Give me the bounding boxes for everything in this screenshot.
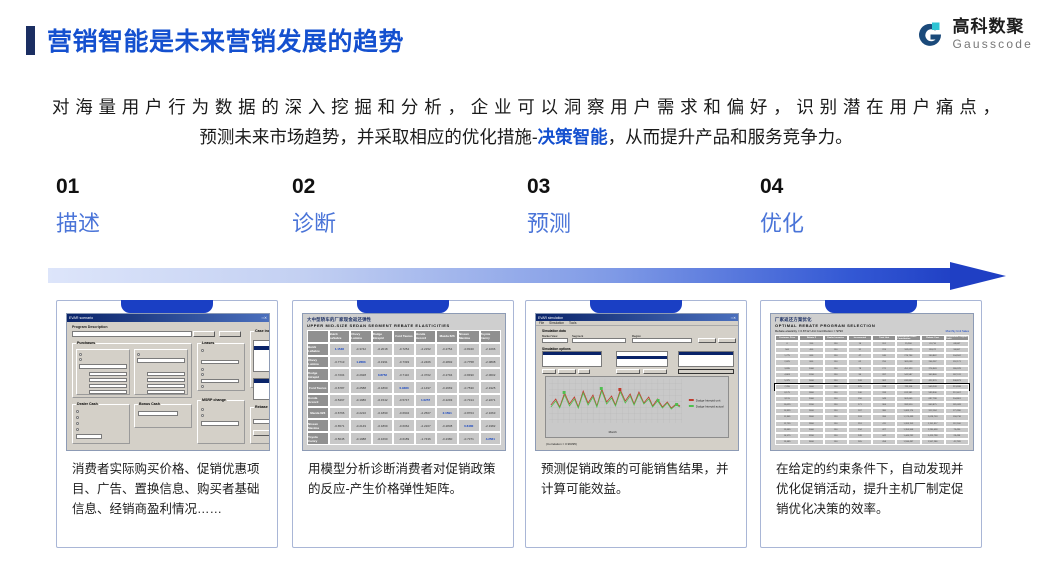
card-04-thumbnail: 厂家返还方案优化 OPTIMAL REBATE PROGRAM SELECTIO… — [770, 313, 974, 451]
card-row: EVAR scenario ▫▫✕ Program Description Pu… — [0, 300, 1051, 550]
table-cell: 0.6480 — [458, 419, 480, 432]
group-rebase-incentives: Rebase incentives — [250, 407, 270, 444]
select-all-button[interactable] — [616, 369, 640, 374]
graph-button[interactable] — [678, 369, 734, 374]
paragraph-highlight: 决策智能 — [538, 127, 608, 147]
radio-all-cash[interactable] — [76, 422, 79, 425]
sim-metrics-selected[interactable] — [679, 352, 733, 355]
table-cell: -2.0602 — [480, 368, 502, 381]
step-04-number: 04 — [760, 176, 960, 197]
term-60-field[interactable] — [89, 390, 127, 394]
table-cell: -22,789 — [945, 439, 969, 445]
sim-action-button-2[interactable] — [718, 338, 736, 343]
lease-cash-field[interactable] — [201, 360, 239, 364]
segment-select[interactable] — [572, 338, 626, 343]
row-header: Chevy Lumina — [307, 356, 329, 369]
group-bonus-cash: Bonus Cash — [134, 404, 192, 428]
group-label-bonus-cash: Bonus Cash — [138, 402, 161, 406]
column-header: Chevy Lumina — [350, 330, 372, 343]
card-01-thumbnail: EVAR scenario ▫▫✕ Program Description Pu… — [66, 313, 270, 451]
logo-text-en: Gausscode — [952, 38, 1033, 50]
step-04: 04 优化 — [760, 176, 960, 235]
group-label-case-incentives: Case incentives — [254, 329, 270, 333]
table-row: Dodge Intrepid-0.7204-0.29280.8752-0.711… — [307, 368, 501, 381]
card-01-tab — [121, 300, 213, 313]
paragraph-line2-after: ，从而提升产品和服务竞争力。 — [608, 127, 853, 147]
card-03-tab — [590, 300, 682, 313]
gausscode-logo-icon — [915, 19, 945, 49]
table-cell: 0.8752 — [372, 368, 394, 381]
group-label-leases: Leases — [201, 341, 215, 345]
win95-dialog-mock: EVAR scenario ▫▫✕ Program Description Pu… — [67, 314, 269, 450]
table-cell: 4.2561 — [480, 432, 502, 445]
card-01-describe[interactable]: EVAR scenario ▫▫✕ Program Description Pu… — [56, 300, 278, 548]
svg-text:Month: Month — [609, 430, 617, 434]
win95-title-text: EVAR scenario — [69, 316, 93, 320]
radio-lease-only[interactable] — [76, 428, 79, 431]
table-cell: -0.8340 — [458, 343, 480, 356]
column-header: Buick LaSabre — [329, 330, 351, 343]
row-header: Toyota Camry — [307, 432, 329, 445]
table-cell: -0.1860 — [372, 381, 394, 394]
optimal-grid: Customer PriceRebate $Dealer IncentiveIn… — [775, 335, 969, 445]
regions-selected-item[interactable] — [254, 379, 270, 383]
table-cell: -0.6787 — [329, 381, 351, 394]
step-04-label: 优化 — [760, 213, 960, 235]
card-02-diagnose[interactable]: 大中型轿车的厂家现金返还弹性 UPPER MID-SIZE SEDAN SEGM… — [292, 300, 514, 548]
menu-file[interactable]: File — [539, 321, 544, 325]
optimal-subtitle: Rebate elasticity = 0.8712 Unit Contribu… — [775, 329, 843, 333]
table-row: 15,48534001502654581,534,4971,557,286-22… — [775, 439, 969, 445]
table-row: Ford Taurus-0.6787-0.2588-0.18600.9480-2… — [307, 381, 501, 394]
column-header: Ford Taurus — [393, 330, 415, 343]
remove-button[interactable] — [558, 369, 576, 374]
step-02: 02 诊断 — [292, 176, 492, 235]
table-cell: -0.2380 — [436, 432, 458, 445]
slide-header: 营销智能是未来营销发展的趋势 高科数聚 Gausscode — [0, 0, 1051, 72]
bonus-cash-field[interactable] — [138, 411, 178, 416]
table-cell: -2.2207 — [415, 419, 437, 432]
step-02-number: 02 — [292, 176, 492, 197]
step-01: 01 描述 — [56, 176, 256, 235]
logo-text-cn: 高科数聚 — [952, 18, 1033, 35]
clear-all-button[interactable] — [643, 369, 667, 374]
table-row: Toyota Camry-0.5645-0.1988-0.1660-0.6189… — [307, 432, 501, 445]
rebase-model-select[interactable] — [253, 419, 270, 424]
table-cell: -0.3742 — [350, 343, 372, 356]
slide-root: 营销智能是未来营销发展的趋势 高科数聚 Gausscode 对海量用户行为数据的… — [0, 0, 1051, 586]
card-03-thumbnail: EVAR simulation ▫▫✕ File Simulation Tool… — [535, 313, 739, 451]
table-cell: 1,534,497 — [896, 439, 920, 445]
table-cell: -0.7530 — [458, 381, 480, 394]
progress-arrow — [48, 262, 1006, 290]
step-03-number: 03 — [527, 176, 727, 197]
add-button[interactable] — [542, 369, 556, 374]
apr-36-field[interactable] — [147, 378, 185, 382]
win95-titlebar: EVAR scenario ▫▫✕ — [67, 314, 269, 322]
radio-no-rebate[interactable] — [79, 353, 82, 356]
step-labels: 01 描述 02 诊断 03 预测 04 优化 — [0, 176, 1051, 248]
step-03-label: 预测 — [527, 213, 727, 235]
dealer-cash-select[interactable] — [76, 434, 102, 439]
table-cell: -0.7393 — [393, 356, 415, 369]
table-cell: -0.7371 — [458, 432, 480, 445]
table-cell: -2.1982 — [480, 419, 502, 432]
table-cell: 1.2683 — [350, 356, 372, 369]
table-row: Mazda 626-0.6766-0.2210-0.1890-0.6904-2.… — [307, 407, 501, 420]
table-cell: -0.2754 — [436, 343, 458, 356]
win95-body: Program Description Purchases — [67, 322, 269, 451]
table-cell: -0.2928 — [350, 368, 372, 381]
elasticity-title-en: UPPER MID-SIZE SEDAN SEGMENT REBATE ELAS… — [307, 323, 450, 328]
correlation-footer: (Correlation = 0.96395) — [546, 442, 577, 446]
table-cell: -0.2210 — [350, 407, 372, 420]
region-select[interactable] — [632, 338, 692, 343]
table-cell: -2.0808 — [480, 356, 502, 369]
table-cell: 15,485 — [775, 439, 799, 445]
radio-cash-only[interactable] — [76, 410, 79, 413]
brand-logo: 高科数聚 Gausscode — [915, 18, 1033, 50]
sim-models-listbox[interactable] — [616, 351, 668, 367]
table-cell: 2.1591 — [436, 407, 458, 420]
column-header: Honda Accord — [415, 330, 437, 343]
card-02-tab — [357, 300, 449, 313]
table-cell: -0.1991 — [372, 356, 394, 369]
table-cell: -0.2293 — [436, 394, 458, 407]
table-cell: -0.8490 — [458, 368, 480, 381]
simulation-window-mock: EVAR simulation ▫▫✕ File Simulation Tool… — [536, 314, 738, 450]
sim-action-button-1[interactable] — [698, 338, 716, 343]
purchase-select-1[interactable] — [79, 364, 127, 369]
table-cell: 3400 — [799, 439, 823, 445]
group-label-program-description: Program Description — [72, 325, 108, 329]
radio-money-factor[interactable] — [201, 368, 204, 371]
table-cell: -0.1988 — [350, 432, 372, 445]
close-button[interactable] — [219, 331, 241, 337]
row-header: Mazda 626 — [307, 407, 329, 420]
program-description-input[interactable] — [72, 331, 192, 337]
table-cell: -1.7436 — [415, 432, 437, 445]
table-cell: -2.3702 — [415, 368, 437, 381]
table-cell: -0.1869 — [372, 419, 394, 432]
simulation-chart: Dodge Intrepid unit Dodge Intrepid actua… — [545, 376, 729, 438]
sim-titlebar: EVAR simulation ▫▫✕ — [536, 314, 738, 321]
optimal-table-mock: 厂家返还方案优化 OPTIMAL REBATE PROGRAM SELECTIO… — [771, 314, 973, 450]
table-cell: -0.6571 — [329, 419, 351, 432]
apr-24-field[interactable] — [147, 372, 185, 376]
svg-text:Dodge Intrepid unit: Dodge Intrepid unit — [696, 398, 721, 402]
radio-apr-lease[interactable] — [201, 373, 204, 376]
paragraph-line2-before: 预测未来市场趋势，并采取相应的优化措施- — [199, 127, 537, 147]
table-cell: -0.1986 — [350, 394, 372, 407]
table-cell: -0.6189 — [393, 432, 415, 445]
table-cell: -2.1497 — [415, 381, 437, 394]
table-cell: -2.2507 — [415, 407, 437, 420]
column-header: Nissan Maxima — [458, 330, 480, 343]
table-cell: -0.6904 — [393, 407, 415, 420]
win95-window-controls-icon: ▫▫✕ — [261, 316, 267, 320]
table-cell: -0.5645 — [329, 432, 351, 445]
radio-msrp-amount[interactable] — [201, 408, 204, 411]
sim-window-controls-icon: ▫▫✕ — [731, 316, 736, 320]
table-cell: -0.6062 — [393, 419, 415, 432]
table-cell: -0.7204 — [329, 368, 351, 381]
lease-rate-field[interactable] — [201, 379, 239, 383]
step-02-label: 诊断 — [292, 213, 492, 235]
table-cell: -0.5747 — [393, 394, 415, 407]
table-cell: -0.2802 — [436, 356, 458, 369]
table-cell: 0.9480 — [393, 381, 415, 394]
card-04-tab — [825, 300, 917, 313]
sim-menubar[interactable]: File Simulation Tools — [536, 321, 738, 326]
table-cell: -0.8704 — [458, 407, 480, 420]
table-cell: -2.1663 — [480, 407, 502, 420]
table-cell: -0.2149 — [350, 419, 372, 432]
card-02-caption: 用模型分析诊断消费者对促销政策的反应-产生价格弹性矩阵。 — [308, 459, 500, 499]
table-cell: -2.2271 — [480, 394, 502, 407]
table-cell: -0.2018 — [372, 343, 394, 356]
msrp-change-field[interactable] — [201, 421, 239, 426]
purchase-select-2[interactable] — [137, 358, 185, 363]
svg-text:Dodge Intrepid actual: Dodge Intrepid actual — [696, 404, 724, 408]
group-leases: Leases — [197, 343, 245, 391]
group-label-purchases: Purchases — [76, 341, 96, 345]
card-04-optimize[interactable]: 厂家返还方案优化 OPTIMAL REBATE PROGRAM SELECTIO… — [760, 300, 982, 548]
column-header: Dodge Intrepid — [372, 330, 394, 343]
row-header: Nissan Maxima — [307, 419, 329, 432]
table-cell: -0.2669 — [436, 381, 458, 394]
group-label-msrp-change: MSRP change — [201, 398, 227, 402]
table-cell: 265 — [848, 439, 872, 445]
table-cell: -0.1660 — [372, 432, 394, 445]
table-row: Chevy Lumina-0.77131.2683-0.1991-0.7393-… — [307, 356, 501, 369]
paragraph-line-2: 预测未来市场趋势，并采取相应的优化措施-决策智能，从而提升产品和服务竞争力。 — [52, 122, 1000, 152]
row-header: Buick LaSabre — [307, 343, 329, 356]
elasticity-grid: Buick LaSabreChevy LuminaDodge IntrepidF… — [307, 330, 501, 445]
table-cell: -0.1542 — [372, 394, 394, 407]
menu-simulation[interactable]: Simulation — [549, 321, 564, 325]
card-03-predict[interactable]: EVAR simulation ▫▫✕ File Simulation Tool… — [525, 300, 747, 548]
table-cell: -0.7713 — [329, 356, 351, 369]
save-button[interactable] — [193, 331, 215, 337]
radio-msrp-percent[interactable] — [201, 414, 204, 417]
sim-models-selected[interactable] — [617, 356, 667, 359]
title-text: 营销智能是未来营销发展的趋势 — [47, 22, 404, 58]
card-04-caption: 在给定的约束条件下，自动发现并优化促销活动，提升主机厂制定促销优化决策的效率。 — [776, 459, 968, 519]
radio-amount-lease[interactable] — [201, 385, 204, 388]
table-cell: -0.2794 — [436, 368, 458, 381]
table-cell: -0.7758 — [458, 356, 480, 369]
table-cell: -2.1096 — [480, 343, 502, 356]
elasticity-table-mock: 大中型轿车的厂家现金返还弹性 UPPER MID-SIZE SEDAN SEGM… — [303, 314, 505, 450]
sim-options-selected[interactable] — [543, 352, 601, 355]
group-label-rebase-incentives: Rebase incentives — [254, 405, 270, 409]
card-03-caption: 预测促销政策的可能销售结果，并计算可能效益。 — [541, 459, 733, 499]
column-header: Mazda 626 — [436, 330, 458, 343]
table-cell: -0.2838 — [436, 419, 458, 432]
table-cell: 1.1548 — [329, 343, 351, 356]
card-02-thumbnail: 大中型轿车的厂家现金返还弹性 UPPER MID-SIZE SEDAN SEGM… — [302, 313, 506, 451]
title-accent-bar — [26, 26, 35, 55]
sim-title-text: EVAR simulation — [538, 316, 563, 320]
table-cell: 458 — [872, 439, 896, 445]
intro-paragraph: 对海量用户行为数据的深入挖掘和分析，企业可以洞察用户需求和偏好，识别潜在用户痛点… — [52, 92, 1000, 152]
table-cell: -0.5497 — [329, 394, 351, 407]
clear-button[interactable] — [253, 430, 270, 436]
models-selected-item[interactable] — [254, 346, 270, 350]
step-03: 03 预测 — [527, 176, 727, 235]
arrow-shaft — [48, 268, 960, 283]
step-01-number: 01 — [56, 176, 256, 197]
row-header: Honda Accord — [307, 394, 329, 407]
table-cell: -0.2588 — [350, 381, 372, 394]
term-36-field[interactable] — [89, 378, 127, 382]
table-row: Nissan Maxima-0.6571-0.2149-0.1869-0.606… — [307, 419, 501, 432]
radio-rebate-cash[interactable] — [76, 416, 79, 419]
table-cell: -0.7110 — [393, 368, 415, 381]
sim-section-data: Simulation data — [542, 329, 566, 333]
optimal-title-en: OPTIMAL REBATE PROGRAM SELECTION — [775, 323, 875, 328]
table-cell: 150 — [824, 439, 848, 445]
market-view-select[interactable] — [542, 338, 568, 343]
paragraph-line-1: 对海量用户行为数据的深入挖掘和分析，企业可以洞察用户需求和偏好，识别潜在用户痛点… — [52, 92, 1000, 122]
term-24-field[interactable] — [89, 372, 127, 376]
page-title: 营销智能是未来营销发展的趋势 — [26, 22, 404, 58]
apr-48-field[interactable] — [147, 384, 185, 388]
table-cell: 1,557,286 — [921, 439, 945, 445]
table-cell: 1.0257 — [415, 394, 437, 407]
optimal-corner-note: Monthly Unit Sales — [946, 329, 969, 333]
row-header: Dodge Intrepid — [307, 368, 329, 381]
menu-tools[interactable]: Tools — [569, 321, 576, 325]
table-cell: -0.7254 — [393, 343, 415, 356]
table-cell: -2.1925 — [480, 381, 502, 394]
step-01-label: 描述 — [56, 213, 256, 235]
table-row: Buick LaSabre1.1548-0.3742-0.2018-0.7254… — [307, 343, 501, 356]
radio-rebate-subsidy[interactable] — [79, 358, 82, 361]
card-01-caption: 消费者实际购买价格、促销优惠项目、广告、置换信息、购买者基础信息、经销商盈利情况… — [72, 459, 264, 519]
column-header: Toyota Camry — [480, 330, 502, 343]
table-row: Honda Accord-0.5497-0.1986-0.1542-0.5747… — [307, 394, 501, 407]
radio-not-offered[interactable] — [137, 353, 140, 356]
table-cell: -0.1890 — [372, 407, 394, 420]
radio-no-subsidy[interactable] — [201, 349, 204, 352]
term-48-field[interactable] — [89, 384, 127, 388]
table-header-row: Buick LaSabreChevy LuminaDodge IntrepidF… — [307, 330, 501, 343]
group-label-dealer-cash: Dealer Cash — [76, 402, 99, 406]
table-cell: -0.6766 — [329, 407, 351, 420]
row-header: Ford Taurus — [307, 381, 329, 394]
models-listbox[interactable] — [253, 340, 270, 372]
table-cell: -2.2406 — [415, 356, 437, 369]
table-cell: -0.7314 — [458, 394, 480, 407]
apr-60-field[interactable] — [147, 390, 185, 394]
edit-button[interactable] — [578, 369, 590, 374]
table-cell: -2.2152 — [415, 343, 437, 356]
arrow-head-icon — [950, 262, 1006, 290]
